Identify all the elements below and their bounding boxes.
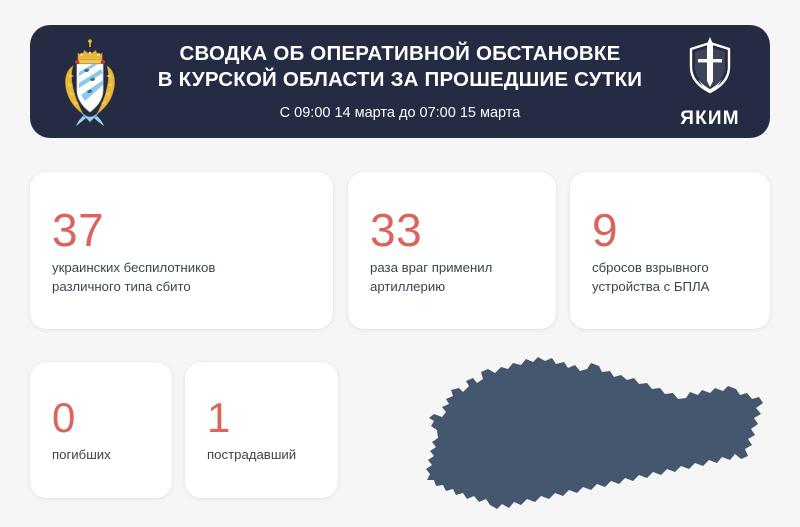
header-title-line-2: В КУРСКОЙ ОБЛАСТИ ЗА ПРОШЕДШИЕ СУТКИ (154, 67, 646, 93)
stat-card-drones: 37 украинских беспилотников различного т… (30, 172, 333, 329)
kursk-coat-of-arms-icon (30, 25, 150, 138)
header-subtitle-period: С 09:00 14 марта до 07:00 15 марта (154, 104, 646, 122)
header-text-block: СВОДКА ОБ ОПЕРАТИВНОЙ ОБСТАНОВКЕ В КУРСК… (150, 41, 650, 122)
stat-value-killed: 0 (52, 396, 150, 440)
stat-label-killed: погибших (52, 446, 150, 465)
stat-label-artillery: раза враг применил артиллерию (370, 259, 534, 296)
stat-value-injured: 1 (207, 396, 316, 440)
stat-card-explosive-drops: 9 сбросов взрывного устройства с БПЛА (570, 172, 770, 329)
stat-card-killed: 0 погибших (30, 362, 172, 498)
header-banner: СВОДКА ОБ ОПЕРАТИВНОЙ ОБСТАНОВКЕ В КУРСК… (30, 25, 770, 138)
shield-sword-icon (684, 37, 736, 104)
stat-card-artillery: 33 раза враг применил артиллерию (348, 172, 556, 329)
stat-label-explosive-drops: сбросов взрывного устройства с БПЛА (592, 259, 748, 296)
brand-name: ЯКИМ (680, 109, 740, 129)
stat-label-drones: украинских беспилотников различного типа… (52, 259, 311, 296)
stat-value-artillery: 33 (370, 205, 534, 255)
header-title-line-1: СВОДКА ОБ ОПЕРАТИВНОЙ ОБСТАНОВКЕ (154, 41, 646, 67)
kursk-oblast-map-icon (425, 352, 770, 517)
stat-card-injured: 1 пострадавший (185, 362, 338, 498)
stat-value-explosive-drops: 9 (592, 205, 748, 255)
stat-label-injured: пострадавший (207, 446, 316, 465)
stat-value-drones: 37 (52, 205, 311, 255)
brand-block: ЯКИМ (650, 25, 770, 138)
